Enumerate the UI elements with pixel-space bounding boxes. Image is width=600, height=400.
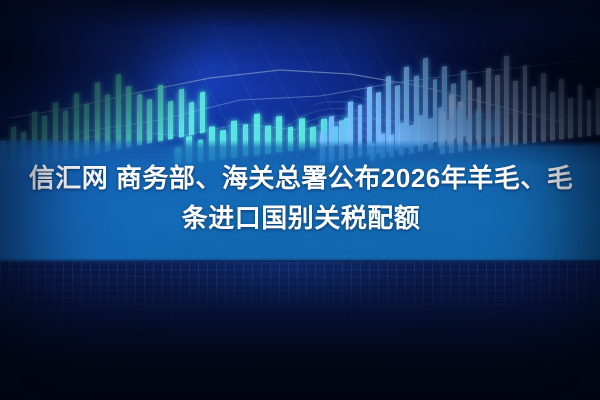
banner-image: 信汇网 商务部、海关总署公布2026年羊毛、毛 条进口国别关税配额: [0, 0, 600, 400]
outer-vignette: [0, 0, 600, 400]
